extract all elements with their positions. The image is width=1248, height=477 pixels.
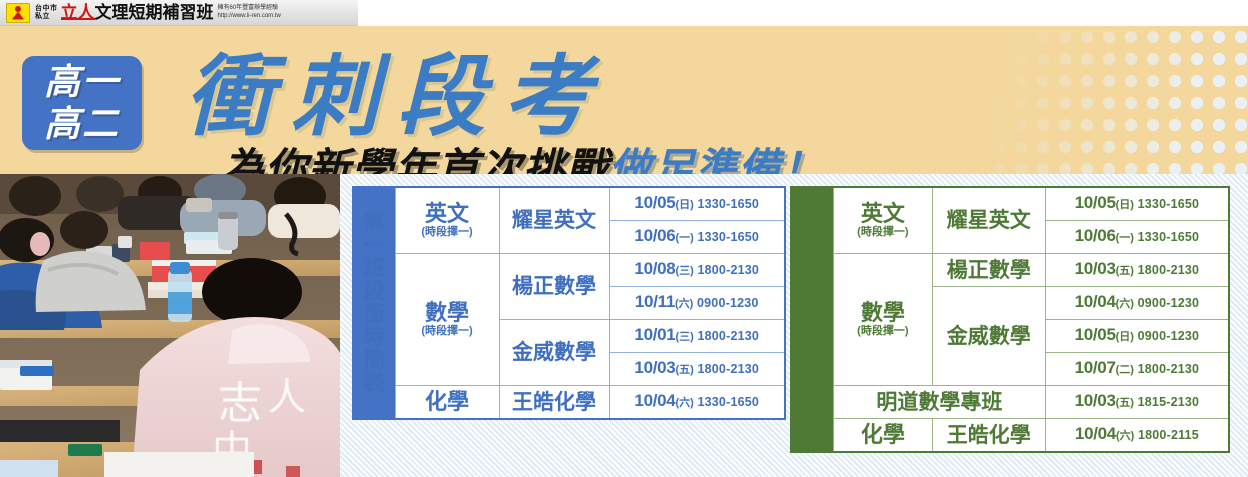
table-side-label-char: 衝 <box>358 303 391 326</box>
classroom-photo: 志 人 中 <box>0 174 340 477</box>
schedule-table-grade2-wrapper: 高二班段衝時間表英文(時段擇一)耀星英文10/05(日) 1330-165010… <box>790 186 1230 453</box>
session-time: 1800-2130 <box>1134 263 1199 277</box>
brand-name-highlight: 立人 <box>61 3 95 22</box>
session-date: 10/03 <box>1075 391 1116 410</box>
table-side-label-char: 時 <box>796 343 829 366</box>
session-weekday: (一) <box>675 232 693 244</box>
session-weekday: (六) <box>1116 430 1134 442</box>
table-cell-session: 10/07(二) 1800-2130 <box>1045 353 1229 386</box>
table-side-label: 高一班段衝時間表 <box>353 187 395 419</box>
table-side-label-char: 間 <box>796 366 829 389</box>
brand-city: 台中市 <box>35 5 58 13</box>
session-time: 0900-1230 <box>693 296 758 310</box>
session-time: 1800-2130 <box>694 329 759 343</box>
table-side-label-char: 表 <box>358 372 391 395</box>
hero-title: 衝刺段考 <box>185 48 609 144</box>
subject-note: (時段擇一) <box>400 226 495 239</box>
session-date: 10/05 <box>634 193 675 212</box>
brand-tagline-block: 擁有60年豐富辦學經驗 http://www.li-ren.com.tw <box>218 5 281 20</box>
session-weekday: (日) <box>1116 199 1134 211</box>
session-time: 1330-1650 <box>1134 197 1199 211</box>
session-date: 10/05 <box>1075 193 1116 212</box>
hero-subtitle-black: 為你新學年首次挑戰 <box>222 145 609 174</box>
table-cell-session: 10/05(日) 0900-1230 <box>1045 320 1229 353</box>
table-cell-session: 10/05(日) 1330-1650 <box>1045 187 1229 221</box>
table-cell-teacher: 王皓化學 <box>499 386 609 420</box>
table-cell-subject: 數學(時段擇一) <box>395 254 499 386</box>
table-cell-session: 10/04(六) 1800-2115 <box>1045 419 1229 453</box>
subject-note: (時段擇一) <box>400 325 495 338</box>
session-date: 10/05 <box>1075 325 1116 344</box>
table-cell-session: 10/11(六) 0900-1230 <box>609 287 785 320</box>
table-side-label: 高二班段衝時間表 <box>791 187 833 452</box>
table-cell-subject: 化學 <box>395 386 499 420</box>
schedule-table-grade1-body: 高一班段衝時間表英文(時段擇一)耀星英文10/05(日) 1330-165010… <box>353 187 785 419</box>
session-date: 10/04 <box>1075 292 1116 311</box>
session-weekday: (五) <box>675 364 693 376</box>
table-cell-teacher: 王皓化學 <box>932 419 1045 453</box>
session-weekday: (三) <box>675 331 693 343</box>
session-time: 1330-1650 <box>694 197 759 211</box>
subject-name: 數學 <box>400 301 495 325</box>
classroom-photo-image: 志 人 中 <box>0 174 340 477</box>
session-weekday: (六) <box>675 397 693 409</box>
session-date: 10/11 <box>635 292 675 311</box>
session-weekday: (五) <box>1116 265 1134 277</box>
table-cell-course: 明道數學專班 <box>833 386 1045 419</box>
table-row: 高二班段衝時間表英文(時段擇一)耀星英文10/05(日) 1330-1650 <box>791 187 1229 221</box>
session-date: 10/06 <box>1075 226 1116 245</box>
schedule-table-grade2-body: 高二班段衝時間表英文(時段擇一)耀星英文10/05(日) 1330-165010… <box>791 187 1229 452</box>
subject-note: (時段擇一) <box>838 226 928 239</box>
table-row: 化學王皓化學10/04(六) 1330-1650 <box>353 386 785 420</box>
table-row: 化學王皓化學10/04(六) 1800-2115 <box>791 419 1229 453</box>
session-weekday: (六) <box>1116 298 1134 310</box>
session-date: 10/08 <box>634 259 675 278</box>
subject-name: 化學 <box>400 390 495 414</box>
table-side-label-char: 時 <box>358 326 391 349</box>
session-date: 10/07 <box>1075 358 1116 377</box>
hero-banner: 高一 高二 衝刺段考 為你新學年首次挑戰做足準備！ <box>0 26 1248 174</box>
session-time: 1330-1650 <box>694 395 759 409</box>
brand-private: 私立 <box>35 13 58 21</box>
session-weekday: (六) <box>675 298 693 310</box>
table-side-label-char: 高 <box>358 211 391 234</box>
halftone-dots-decoration <box>988 26 1248 174</box>
subject-note: (時段擇一) <box>838 325 928 338</box>
session-time: 1330-1650 <box>1134 230 1199 244</box>
session-date: 10/06 <box>634 226 675 245</box>
table-side-label-char: 班 <box>358 257 391 280</box>
session-weekday: (二) <box>1116 364 1134 376</box>
brand-name: 文理短期補習班 <box>95 3 214 22</box>
session-date: 10/04 <box>1075 424 1116 443</box>
table-cell-session: 10/05(日) 1330-1650 <box>609 187 785 221</box>
table-cell-teacher: 耀星英文 <box>499 187 609 254</box>
schedule-table-grade1: 高一班段衝時間表英文(時段擇一)耀星英文10/05(日) 1330-165010… <box>352 186 786 420</box>
table-side-label-char: 高 <box>796 228 829 251</box>
subject-name: 英文 <box>400 202 495 226</box>
content-area: 志 人 中 高一班段衝時間表英文(時段擇一)耀星英文10/05(日) 1330-… <box>0 174 1248 477</box>
hero-subtitle-blue: 做足準備！ <box>609 145 824 174</box>
table-row: 數學(時段擇一)楊正數學10/03(五) 1800-2130 <box>791 254 1229 287</box>
session-weekday: (日) <box>675 199 693 211</box>
brand-header-inner: 台中市 私立 立人 文理短期補習班 擁有60年豐富辦學經驗 http://www… <box>0 0 358 26</box>
table-cell-session: 10/03(五) 1800-2130 <box>609 353 785 386</box>
schedule-table-grade1-wrapper: 高一班段衝時間表英文(時段擇一)耀星英文10/05(日) 1330-165010… <box>352 186 784 420</box>
session-time: 1330-1650 <box>694 230 759 244</box>
session-date: 10/01 <box>634 325 675 344</box>
promo-banner-page: 台中市 私立 立人 文理短期補習班 擁有60年豐富辦學經驗 http://www… <box>0 0 1248 477</box>
table-cell-session: 10/06(一) 1330-1650 <box>609 221 785 254</box>
table-row: 數學(時段擇一)楊正數學10/08(三) 1800-2130 <box>353 254 785 287</box>
session-time: 1800-2115 <box>1134 428 1199 442</box>
subject-name: 數學 <box>838 301 928 325</box>
school-logo-icon <box>6 3 30 23</box>
table-cell-subject: 英文(時段擇一) <box>833 187 932 254</box>
table-cell-session: 10/03(五) 1800-2130 <box>1045 254 1229 287</box>
table-side-label-char: 段 <box>796 297 829 320</box>
session-time: 1800-2130 <box>1134 362 1199 376</box>
table-side-label-char: 一 <box>358 234 391 257</box>
table-cell-teacher: 金威數學 <box>499 320 609 386</box>
session-weekday: (一) <box>1116 232 1134 244</box>
table-row: 明道數學專班10/03(五) 1815-2130 <box>791 386 1229 419</box>
table-cell-session: 10/01(三) 1800-2130 <box>609 320 785 353</box>
grade-badge-line-2: 高二 <box>44 103 120 145</box>
table-row: 高一班段衝時間表英文(時段擇一)耀星英文10/05(日) 1330-1650 <box>353 187 785 221</box>
brand-website-url[interactable]: http://www.li-ren.com.tw <box>218 13 281 21</box>
table-cell-session: 10/08(三) 1800-2130 <box>609 254 785 287</box>
grade-badge: 高一 高二 <box>22 56 142 150</box>
table-cell-session: 10/06(一) 1330-1650 <box>1045 221 1229 254</box>
table-side-label-char: 衝 <box>796 320 829 343</box>
session-time: 0900-1230 <box>1134 329 1199 343</box>
svg-text:人: 人 <box>268 375 306 419</box>
table-cell-session: 10/04(六) 0900-1230 <box>1045 287 1229 320</box>
brand-header: 台中市 私立 立人 文理短期補習班 擁有60年豐富辦學經驗 http://www… <box>0 0 1248 26</box>
table-cell-subject: 化學 <box>833 419 932 453</box>
hero-subtitle: 為你新學年首次挑戰做足準備！ <box>222 145 824 174</box>
session-time: 1800-2130 <box>694 263 759 277</box>
session-date: 10/03 <box>634 358 675 377</box>
table-side-label-char: 間 <box>358 349 391 372</box>
session-time: 1815-2130 <box>1134 395 1199 409</box>
table-side-label-char: 表 <box>796 389 829 412</box>
session-time: 0900-1230 <box>1134 296 1199 310</box>
table-cell-session: 10/04(六) 1330-1650 <box>609 386 785 420</box>
table-cell-subject: 英文(時段擇一) <box>395 187 499 254</box>
session-date: 10/04 <box>634 391 675 410</box>
table-side-label-char: 二 <box>796 251 829 274</box>
table-cell-subject: 數學(時段擇一) <box>833 254 932 386</box>
subject-name: 化學 <box>838 423 928 447</box>
table-side-label-char: 段 <box>358 280 391 303</box>
table-cell-session: 10/03(五) 1815-2130 <box>1045 386 1229 419</box>
svg-text:志: 志 <box>218 378 262 429</box>
session-date: 10/03 <box>1075 259 1116 278</box>
brand-tagline: 擁有60年豐富辦學經驗 <box>218 5 281 13</box>
table-side-label-char: 班 <box>796 274 829 297</box>
session-weekday: (日) <box>1116 331 1134 343</box>
table-cell-teacher: 楊正數學 <box>499 254 609 320</box>
subject-name: 英文 <box>838 202 928 226</box>
grade-badge-line-1: 高一 <box>44 61 120 103</box>
schedule-table-grade2: 高二班段衝時間表英文(時段擇一)耀星英文10/05(日) 1330-165010… <box>790 186 1230 453</box>
brand-city-block: 台中市 私立 <box>35 5 58 21</box>
session-time: 1800-2130 <box>694 362 759 376</box>
table-cell-teacher: 耀星英文 <box>932 187 1045 254</box>
table-cell-teacher: 楊正數學 <box>932 254 1045 287</box>
table-cell-teacher: 金威數學 <box>932 287 1045 386</box>
session-weekday: (五) <box>1116 397 1134 409</box>
session-weekday: (三) <box>675 265 693 277</box>
